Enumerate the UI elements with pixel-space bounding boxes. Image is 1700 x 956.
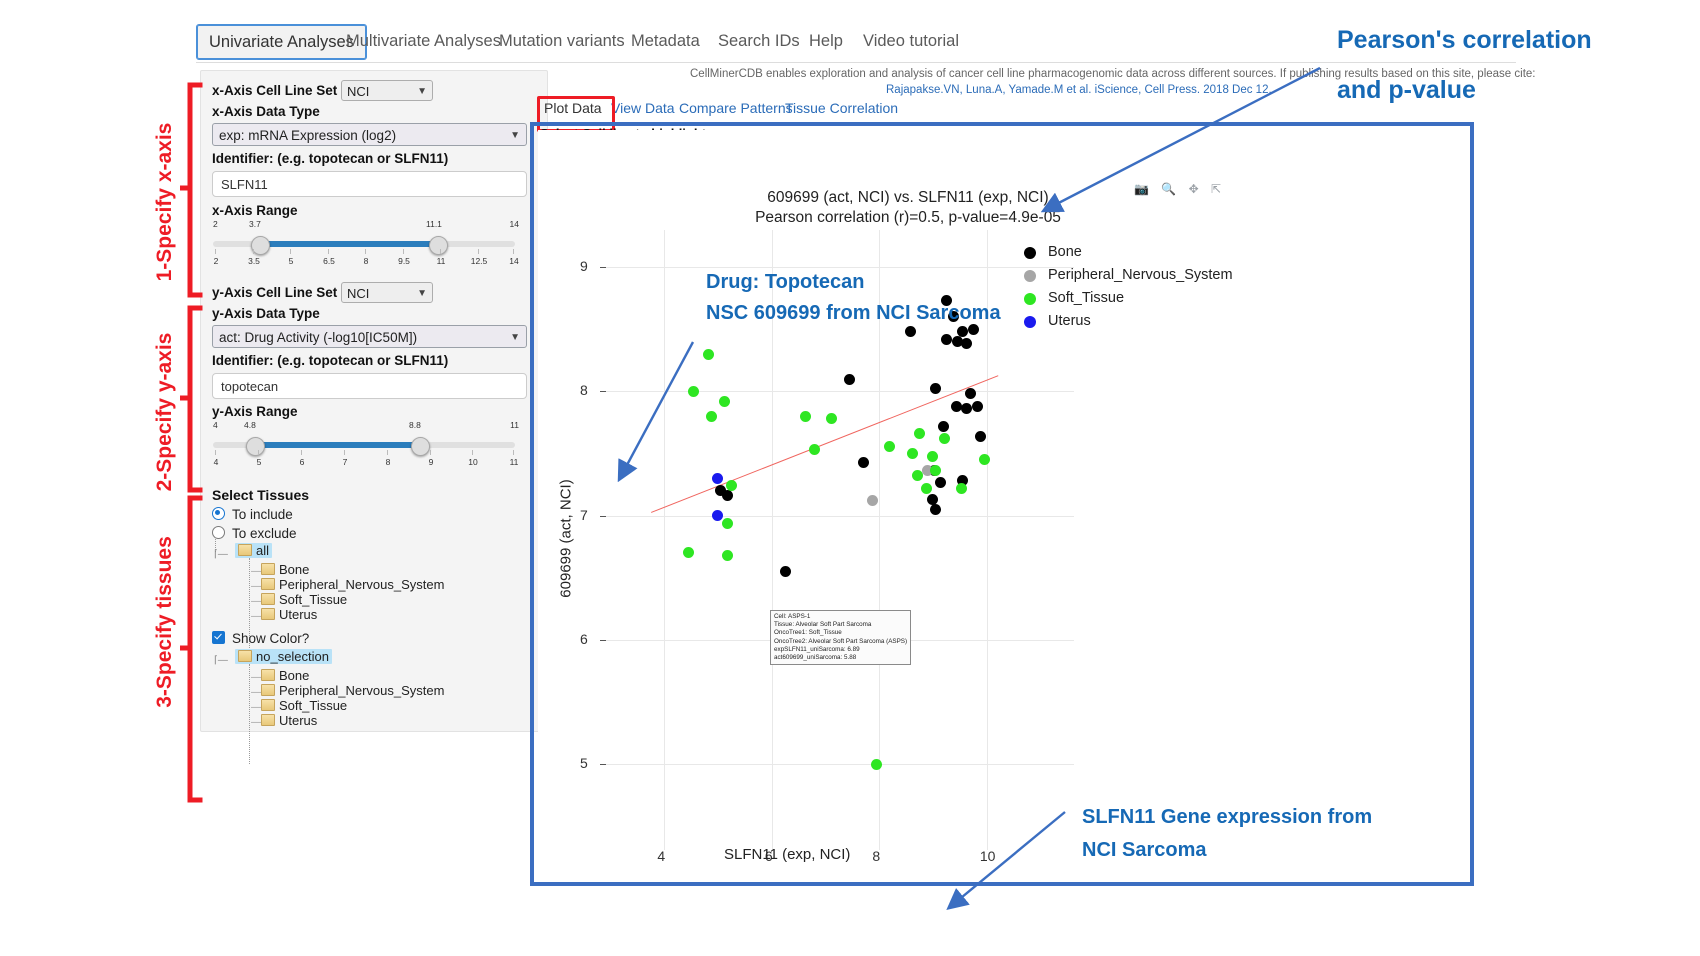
y-slider-selected-range <box>255 442 419 448</box>
tree-node-exclude-pns-label: Peripheral_Nervous_System <box>279 683 444 698</box>
tree-node-no-selection[interactable]: no_selection <box>235 649 332 664</box>
tooltip-line-3: OncoTree2: Alveolar Soft Part Sarcoma (A… <box>774 638 907 646</box>
y-axis-range-slider[interactable]: 4 11 4.8 8.8 4 5 6 7 8 9 10 11 <box>213 426 515 468</box>
scatter-point[interactable] <box>975 431 986 442</box>
y-axis-cell-line-set-label: y-Axis Cell Line Set <box>212 285 337 300</box>
y-axis-cell-line-set-select[interactable]: NCI ▼ <box>341 282 433 303</box>
scatter-point[interactable] <box>914 428 925 439</box>
scatter-point[interactable] <box>972 401 983 412</box>
annotation-specify-y-axis: 2-Specify y-axis <box>153 312 177 512</box>
scatter-point[interactable] <box>722 518 733 529</box>
x-axis-identifier-value: SLFN11 <box>221 177 268 192</box>
scatter-point[interactable] <box>683 547 694 558</box>
nav-tab-help[interactable]: Help <box>797 24 855 58</box>
tree-node-include-pns-label: Peripheral_Nervous_System <box>279 577 444 592</box>
legend-color-dot <box>1024 247 1036 259</box>
legend-label: Peripheral_Nervous_System <box>1048 267 1233 283</box>
x-slider-handle-high-value: 11.1 <box>426 219 442 229</box>
tree-expander-no-selection[interactable]: ⌈— <box>214 651 228 666</box>
x-axis-identifier-input[interactable]: SLFN11 <box>212 171 527 197</box>
y-tick-0: 4 <box>214 457 219 467</box>
tree-node-include-soft-tissue[interactable]: —Soft_Tissue <box>251 592 347 607</box>
folder-icon <box>238 650 252 662</box>
scatter-point[interactable] <box>780 566 791 577</box>
scatter-point[interactable] <box>956 483 967 494</box>
folder-icon <box>261 714 275 726</box>
scatter-point[interactable] <box>935 477 946 488</box>
x-slider-selected-range <box>258 241 436 247</box>
tree-node-exclude-uterus[interactable]: —Uterus <box>251 713 317 728</box>
scatter-point[interactable] <box>979 454 990 465</box>
x-axis-identifier-label: Identifier: (e.g. topotecan or SLFN11) <box>212 151 448 166</box>
tree-node-exclude-uterus-label: Uterus <box>279 713 317 728</box>
annotation-specify-x-axis: 1-Specify x-axis <box>153 102 177 302</box>
cellminercdb-app: Univariate Analyses Multivariate Analyse… <box>0 0 1700 956</box>
scatter-plot: 📷 🔍 ✥ ⇱ 609699 (act, NCI) vs. SLFN11 (ex… <box>538 130 1466 870</box>
legend-color-dot <box>1024 293 1036 305</box>
chevron-down-icon: ▼ <box>510 124 520 147</box>
tree-node-exclude-bone-label: Bone <box>279 668 309 683</box>
x-tick-2: 5 <box>289 256 294 266</box>
folder-icon <box>261 699 275 711</box>
x-axis-cell-line-set-value: NCI <box>347 84 369 99</box>
scatter-point[interactable] <box>927 451 938 462</box>
plot-data-layer <box>538 130 1466 870</box>
tooltip-line-4: expSLFN11_uniSarcoma: 6.89 <box>774 646 907 654</box>
scatter-point[interactable] <box>703 349 714 360</box>
scatter-point[interactable] <box>826 413 837 424</box>
scatter-point[interactable] <box>961 403 972 414</box>
tree-node-include-uterus-label: Uterus <box>279 607 317 622</box>
x-tick-4: 8 <box>364 256 369 266</box>
annotation-nci-sarcoma: NCI Sarcoma <box>1082 838 1207 863</box>
nav-tab-mutation-variants[interactable]: Mutation variants <box>487 24 637 58</box>
x-axis-range-slider[interactable]: 2 14 3.7 11.1 2 3.5 5 6.5 8 9.5 11 12. <box>213 225 515 267</box>
y-axis-range-min-end: 4 <box>213 420 218 430</box>
tree-node-exclude-pns[interactable]: —Peripheral_Nervous_System <box>251 683 444 698</box>
tooltip-line-0: Cell: ASPS-1 <box>774 613 907 621</box>
tree-node-include-bone-label: Bone <box>279 562 309 577</box>
tooltip-line-1: Tissue: Alveolar Soft Part Sarcoma <box>774 621 907 629</box>
regression-line <box>651 375 998 513</box>
x-tick-8: 14 <box>509 256 518 266</box>
scatter-point[interactable] <box>722 490 733 501</box>
y-axis-range-max-end: 11 <box>510 420 519 430</box>
y-tick-2: 6 <box>300 457 305 467</box>
x-tick-7: 12.5 <box>471 256 488 266</box>
folder-icon <box>261 669 275 681</box>
chevron-down-icon: ▼ <box>417 81 427 102</box>
scatter-point[interactable] <box>809 444 820 455</box>
y-axis-data-type-value: act: Drug Activity (-log10[IC50M]) <box>219 330 417 345</box>
radio-exclude-label: To exclude <box>232 526 297 541</box>
scatter-point[interactable] <box>719 396 730 407</box>
annotation-slfn11-expression: SLFN11 Gene expression from <box>1082 805 1372 830</box>
x-tick-3: 6.5 <box>323 256 335 266</box>
y-tick-4: 8 <box>386 457 391 467</box>
scatter-point[interactable] <box>965 388 976 399</box>
scatter-point[interactable] <box>844 374 855 385</box>
scatter-point[interactable] <box>858 457 869 468</box>
x-slider-ticks: 2 3.5 5 6.5 8 9.5 11 12.5 14 <box>213 249 515 255</box>
x-tick-0: 2 <box>214 256 219 266</box>
y-slider-ticks: 4 5 6 7 8 9 10 11 <box>213 450 515 456</box>
folder-icon <box>261 608 275 620</box>
scatter-point[interactable] <box>884 441 895 452</box>
y-tick-3: 7 <box>343 457 348 467</box>
folder-icon <box>261 684 275 696</box>
x-axis-data-type-label: x-Axis Data Type <box>212 104 320 119</box>
y-axis-tick <box>600 391 606 392</box>
folder-icon <box>238 544 252 556</box>
x-axis-range-min-end: 2 <box>213 219 218 229</box>
scatter-point[interactable] <box>688 386 699 397</box>
legend-label: Bone <box>1048 244 1082 260</box>
annotation-and-p-value: and p-value <box>1337 75 1476 105</box>
tree-node-include-uterus[interactable]: —Uterus <box>251 607 317 622</box>
show-color-label: Show Color? <box>232 631 309 646</box>
point-tooltip: Cell: ASPS-1 Tissue: Alveolar Soft Part … <box>770 610 911 665</box>
radio-to-exclude[interactable]: To exclude <box>212 526 297 541</box>
chevron-down-icon: ▼ <box>417 283 427 304</box>
scatter-point[interactable] <box>912 470 923 481</box>
annotation-nsc-609699: NSC 609699 from NCI Sarcoma <box>706 301 1001 326</box>
scatter-point[interactable] <box>930 383 941 394</box>
tree-node-exclude-bone[interactable]: —Bone <box>251 668 309 683</box>
x-axis-cell-line-set-label: x-Axis Cell Line Set <box>212 83 337 98</box>
tooltip-line-5: act609699_uniSarcoma: 5.88 <box>774 654 907 662</box>
x-axis-cell-line-set-select[interactable]: NCI ▼ <box>341 80 433 101</box>
x-axis-range-max-end: 14 <box>510 219 519 229</box>
chevron-down-icon: ▼ <box>510 326 520 349</box>
x-axis-data-type-select[interactable]: exp: mRNA Expression (log2) ▼ <box>212 123 527 146</box>
scatter-point[interactable] <box>722 550 733 561</box>
scatter-point[interactable] <box>712 510 723 521</box>
y-axis-range-label: y-Axis Range <box>212 404 298 419</box>
legend-label: Uterus <box>1048 313 1091 329</box>
y-tick-6: 10 <box>468 457 477 467</box>
y-axis-tick <box>600 640 606 641</box>
y-tick-7: 11 <box>510 457 519 467</box>
y-axis-identifier-input[interactable]: topotecan <box>212 373 527 399</box>
app-citation-link[interactable]: Rajapakse.VN, Luna.A, Yamade.M et al. iS… <box>886 84 1272 96</box>
scatter-point[interactable] <box>905 326 916 337</box>
radio-include-label: To include <box>232 507 293 522</box>
y-axis-identifier-label: Identifier: (e.g. topotecan or SLFN11) <box>212 353 448 368</box>
y-axis-tick <box>600 516 606 517</box>
scatter-point[interactable] <box>871 759 882 770</box>
folder-icon <box>261 593 275 605</box>
scatter-point[interactable] <box>800 411 811 422</box>
tree-node-include-bone[interactable]: —Bone <box>251 562 309 577</box>
nav-tab-metadata[interactable]: Metadata <box>619 24 712 58</box>
scatter-point[interactable] <box>921 483 932 494</box>
y-axis-identifier-value: topotecan <box>221 379 278 394</box>
y-slider-handle-high-value: 8.8 <box>409 420 421 430</box>
controls-panel: x-Axis Cell Line Set NCI ▼ x-Axis Data T… <box>200 70 548 732</box>
tree-node-no-selection-label: no_selection <box>256 649 329 664</box>
legend-color-dot <box>1024 316 1036 328</box>
x-tick-6: 11 <box>437 256 446 266</box>
tree-node-exclude-soft-tissue-label: Soft_Tissue <box>279 698 347 713</box>
tree-node-all-label: all <box>256 543 269 558</box>
x-tick-1: 3.5 <box>248 256 260 266</box>
main-nav-tabs: Univariate Analyses Multivariate Analyse… <box>196 24 1516 63</box>
y-axis-cell-line-set-value: NCI <box>347 286 369 301</box>
y-tick-5: 9 <box>429 457 434 467</box>
scatter-point[interactable] <box>930 504 941 515</box>
y-axis-tick <box>600 267 606 268</box>
scatter-point[interactable] <box>961 338 972 349</box>
y-tick-1: 5 <box>257 457 262 467</box>
annotation-drug-topotecan: Drug: Topotecan <box>706 270 865 295</box>
y-axis-data-type-select[interactable]: act: Drug Activity (-log10[IC50M]) ▼ <box>212 325 527 348</box>
select-tissues-title: Select Tissues <box>212 487 309 503</box>
x-axis-data-type-value: exp: mRNA Expression (log2) <box>219 128 396 143</box>
tree-node-exclude-soft-tissue[interactable]: —Soft_Tissue <box>251 698 347 713</box>
subtab-tissue-correlation[interactable]: Tissue Correlation <box>785 100 898 116</box>
nav-tab-video-tutorial[interactable]: Video tutorial <box>851 24 971 58</box>
folder-icon <box>261 578 275 590</box>
scatter-point[interactable] <box>938 421 949 432</box>
y-axis-tick <box>600 764 606 765</box>
annotation-specify-tissues: 3-Specify tissues <box>153 512 177 732</box>
tree-node-include-soft-tissue-label: Soft_Tissue <box>279 592 347 607</box>
radio-include-icon <box>212 507 225 520</box>
show-color-checkbox[interactable]: Show Color? <box>212 631 309 646</box>
scatter-point[interactable] <box>726 480 737 491</box>
x-axis-range-label: x-Axis Range <box>212 203 298 218</box>
scatter-point[interactable] <box>867 495 878 506</box>
folder-icon <box>261 563 275 575</box>
checkbox-checked-icon <box>212 631 225 644</box>
tree-node-all[interactable]: all <box>235 543 272 558</box>
scatter-point[interactable] <box>712 473 723 484</box>
tooltip-line-2: OncoTree1: Soft_Tissue <box>774 629 907 637</box>
subtab-compare-patterns[interactable]: Compare Patterns <box>679 100 793 116</box>
legend-label: Soft_Tissue <box>1048 290 1124 306</box>
scatter-point[interactable] <box>930 465 941 476</box>
nav-tab-search-ids[interactable]: Search IDs <box>706 24 812 58</box>
legend-color-dot <box>1024 270 1036 282</box>
y-axis-data-type-label: y-Axis Data Type <box>212 306 320 321</box>
scatter-point[interactable] <box>706 411 717 422</box>
scatter-point[interactable] <box>939 433 950 444</box>
tree-node-include-pns[interactable]: —Peripheral_Nervous_System <box>251 577 444 592</box>
x-tick-5: 9.5 <box>398 256 410 266</box>
scatter-point[interactable] <box>951 401 962 412</box>
subtab-view-data[interactable]: View Data <box>611 100 675 116</box>
annotation-pearson-correlation: Pearson's correlation <box>1337 25 1592 55</box>
y-slider-handle-low-value: 4.8 <box>244 420 256 430</box>
radio-to-include[interactable]: To include <box>212 507 293 522</box>
scatter-point[interactable] <box>941 334 952 345</box>
radio-exclude-icon <box>212 526 225 539</box>
scatter-point[interactable] <box>907 448 918 459</box>
x-slider-handle-low-value: 3.7 <box>249 219 261 229</box>
tree-expander-all[interactable]: ⌈— <box>214 545 228 560</box>
